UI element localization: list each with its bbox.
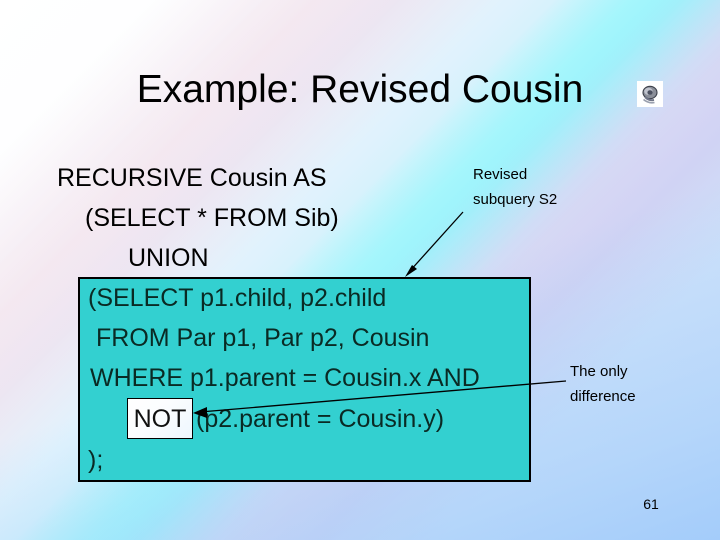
subquery-line-select: (SELECT p1.child, p2.child <box>88 283 386 313</box>
annotation-the-only-difference: The only difference <box>570 359 636 409</box>
sound-speaker-icon[interactable] <box>637 81 663 107</box>
page-number: 61 <box>636 495 666 513</box>
query-line-select-sib: (SELECT * FROM Sib) <box>85 203 339 233</box>
subquery-line-close: ); <box>88 445 103 475</box>
query-line-union: UNION <box>128 243 209 273</box>
slide-canvas: Example: Revised Cousin RECURSIVE Cousin… <box>0 0 720 540</box>
not-keyword-label: NOT <box>134 405 187 433</box>
subquery-line-from: FROM Par p1, Par p2, Cousin <box>96 323 429 353</box>
annotation-revised-subquery: Revised subquery S2 <box>473 162 557 212</box>
subquery-line-where: WHERE p1.parent = Cousin.x AND <box>90 363 480 393</box>
query-line-recursive: RECURSIVE Cousin AS <box>57 163 327 193</box>
not-callout-box: NOT <box>127 398 193 439</box>
arrow-to-subquery-box <box>405 212 463 277</box>
slide-title: Example: Revised Cousin <box>0 66 720 114</box>
subquery-line-p2: (p2.parent = Cousin.y) <box>196 404 444 434</box>
